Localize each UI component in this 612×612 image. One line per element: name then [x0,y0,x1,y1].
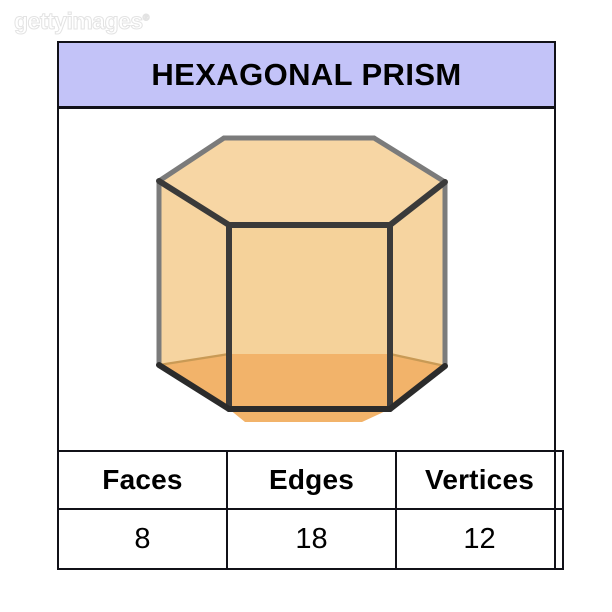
table-header-edges: Edges [227,451,396,509]
watermark-label: gettyimages [14,8,143,34]
title-banner: HEXAGONAL PRISM [59,43,554,109]
figure-area [59,109,554,454]
solid-properties-table: Faces Edges Vertices 8 18 12 [57,450,564,570]
page-title: HEXAGONAL PRISM [151,57,461,93]
prism-front-lower-face [229,354,390,409]
table-value-vertices: 12 [396,509,563,569]
table-header-vertices: Vertices [396,451,563,509]
table-value-row: 8 18 12 [58,509,563,569]
table-header-row: Faces Edges Vertices [58,451,563,509]
hexagonal-prism-figure [152,132,462,432]
diagram-card: HEXAGONAL PRISM [57,41,556,570]
prism-front-upper-face [229,225,390,354]
getty-images-watermark: gettyimages® [14,8,149,35]
table-header-faces: Faces [58,451,227,509]
table-value-edges: 18 [227,509,396,569]
table-value-faces: 8 [58,509,227,569]
watermark-registered-mark: ® [143,12,149,22]
